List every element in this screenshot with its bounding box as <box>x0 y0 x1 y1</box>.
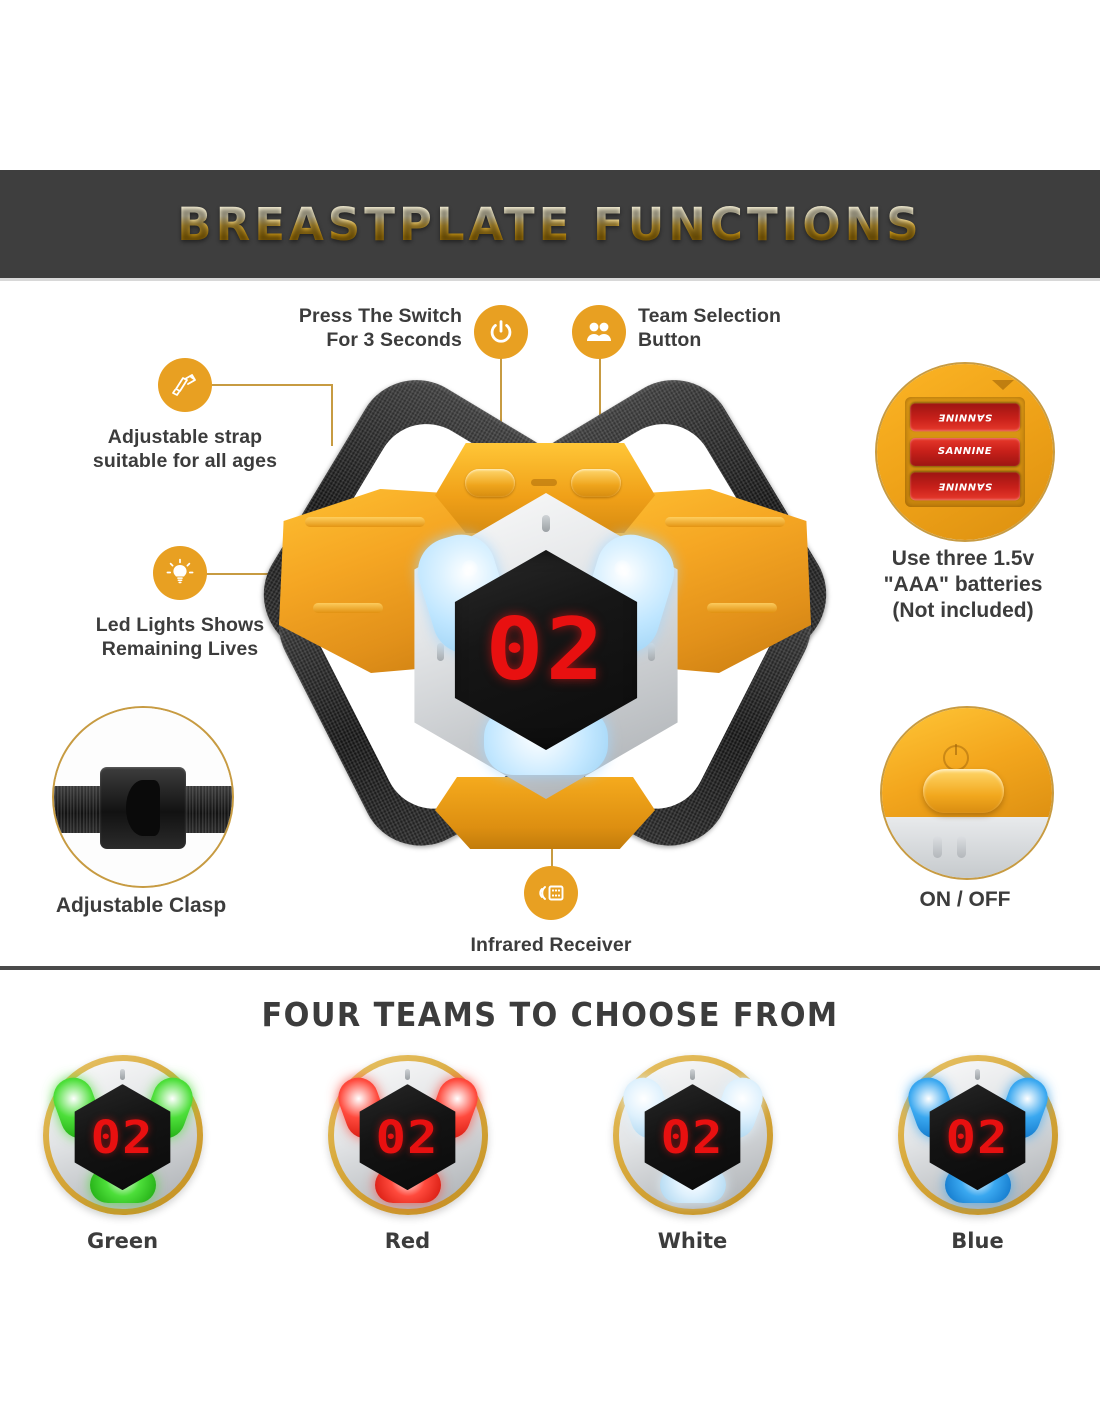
callout-press-switch-text: Press The Switch For 3 Seconds <box>283 305 462 353</box>
onoff-inset-image <box>880 706 1054 880</box>
battery-cell: SANNINE <box>910 472 1020 500</box>
team-label: Green <box>30 1229 215 1253</box>
lightbulb-icon <box>153 546 207 600</box>
life-counter-value: 02 <box>486 600 606 700</box>
callout-team-line1: Team Selection <box>638 305 822 329</box>
battery-brand-label: SANNINE <box>938 446 992 457</box>
callout-led-line1: Led Lights Shows <box>55 614 305 638</box>
battery-brand-label: SANNINE <box>938 412 992 423</box>
header-band: BREASTPLATE FUNCTIONS <box>0 170 1100 278</box>
onoff-switch[interactable] <box>923 769 1005 813</box>
callout-adjustable-strap: Adjustable strap suitable for all ages <box>60 358 310 474</box>
callout-switch-line2: For 3 Seconds <box>283 329 462 353</box>
clasp-buckle <box>100 767 185 849</box>
device-core: 02 <box>393 493 699 799</box>
callout-strap-line2: suitable for all ages <box>60 450 310 474</box>
team-label: Blue <box>885 1229 1070 1253</box>
core-indicator-dot <box>542 515 550 532</box>
callout-switch-line1: Press The Switch <box>283 305 462 329</box>
teams-section-title: FOUR TEAMS TO CHOOSE FROM <box>44 995 1056 1034</box>
battery-label-line3: (Not included) <box>865 598 1061 624</box>
clasp-inset-image <box>52 706 234 888</box>
adjustable-strap-icon <box>158 358 212 412</box>
breastplate-device: 02 <box>285 385 805 855</box>
callout-infrared-text: Infrared Receiver <box>426 934 676 958</box>
battery-inset-label: Use three 1.5v "AAA" batteries (Not incl… <box>865 546 1061 624</box>
callout-led-line2: Remaining Lives <box>55 638 305 662</box>
battery-label-line1: Use three 1.5v <box>865 546 1061 572</box>
team-device-preview: 02 <box>613 1055 773 1215</box>
clasp-inset-label: Adjustable Clasp <box>30 894 252 918</box>
callout-led-lights: Led Lights Shows Remaining Lives <box>55 546 305 662</box>
team-option-red[interactable]: 02 Red <box>315 1055 500 1253</box>
team-display-value: 02 <box>91 1111 154 1164</box>
team-option-green[interactable]: 02 Green <box>30 1055 215 1253</box>
page-title: BREASTPLATE FUNCTIONS <box>177 198 922 251</box>
callout-team-selection: Team Selection Button <box>572 305 822 359</box>
callout-led-lights-text: Led Lights Shows Remaining Lives <box>55 614 305 662</box>
team-option-blue[interactable]: 02 Blue <box>885 1055 1070 1253</box>
section-divider <box>0 966 1100 970</box>
team-display-value: 02 <box>946 1111 1009 1164</box>
callout-team-selection-text: Team Selection Button <box>638 305 822 353</box>
battery-inset-image: SANNINE SANNINE SANNINE <box>875 362 1055 542</box>
callout-infrared-receiver: Infrared Receiver <box>426 866 676 958</box>
infographic-page: BREASTPLATE FUNCTIONS <box>0 0 1100 1422</box>
battery-tray: SANNINE SANNINE SANNINE <box>905 397 1025 506</box>
power-icon <box>474 305 528 359</box>
team-option-white[interactable]: 02 White <box>600 1055 785 1253</box>
team-device-preview: 02 <box>43 1055 203 1215</box>
team-display-value: 02 <box>376 1111 439 1164</box>
callout-strap-line1: Adjustable strap <box>60 426 310 450</box>
two-people-icon <box>572 305 626 359</box>
callout-team-line2: Button <box>638 329 822 353</box>
battery-label-line2: "AAA" batteries <box>865 572 1061 598</box>
callout-adjustable-strap-text: Adjustable strap suitable for all ages <box>60 426 310 474</box>
battery-brand-label: SANNINE <box>938 481 992 492</box>
team-label: Red <box>315 1229 500 1253</box>
onoff-inset-label: ON / OFF <box>865 888 1065 912</box>
team-display-value: 02 <box>661 1111 724 1164</box>
callout-press-switch: Press The Switch For 3 Seconds <box>283 305 528 359</box>
team-label: White <box>600 1229 785 1253</box>
battery-cell: SANNINE <box>910 438 1020 466</box>
battery-cell: SANNINE <box>910 403 1020 431</box>
team-device-preview: 02 <box>328 1055 488 1215</box>
infrared-receiver-icon <box>524 866 578 920</box>
team-device-preview: 02 <box>898 1055 1058 1215</box>
